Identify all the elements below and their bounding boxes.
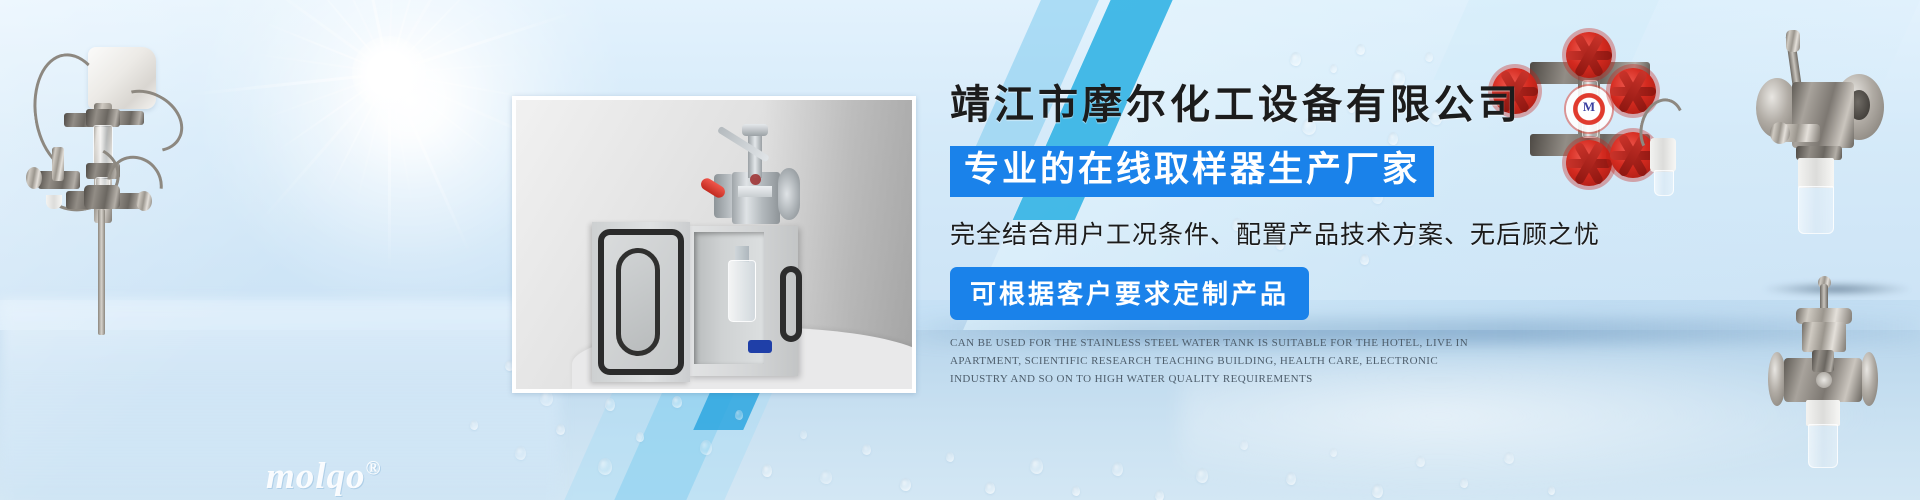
custom-product-pill-text: 可根据客户要求定制产品 [970, 274, 1289, 311]
promotional-banner: M 靖江市摩 [0, 0, 1920, 500]
registered-mark-icon: ® [366, 458, 382, 480]
center-product-photo [512, 96, 916, 393]
brand-watermark-text: molqo [266, 456, 366, 497]
company-name: 靖江市摩尔化工设备有限公司 [950, 82, 1720, 128]
fineprint-text: CAN BE USED FOR THE STAINLESS STEEL WATE… [950, 334, 1470, 388]
custom-product-pill: 可根据客户要求定制产品 [950, 267, 1309, 320]
subline-text: 完全结合用户工况条件、配置产品技术方案、无后顾之忧 [950, 215, 1720, 251]
right-gate-valve-render [1760, 272, 1910, 472]
banner-copy: 靖江市摩尔化工设备有限公司 专业的在线取样器生产厂家 完全结合用户工况条件、配置… [950, 82, 1720, 388]
brand-watermark: molqo® [266, 455, 382, 498]
headline-text: 专业的在线取样器生产厂家 [964, 152, 1420, 189]
left-product-render [10, 25, 190, 355]
headline-highlight-bar: 专业的在线取样器生产厂家 [950, 146, 1434, 197]
right-ball-valve-render [1750, 30, 1920, 245]
